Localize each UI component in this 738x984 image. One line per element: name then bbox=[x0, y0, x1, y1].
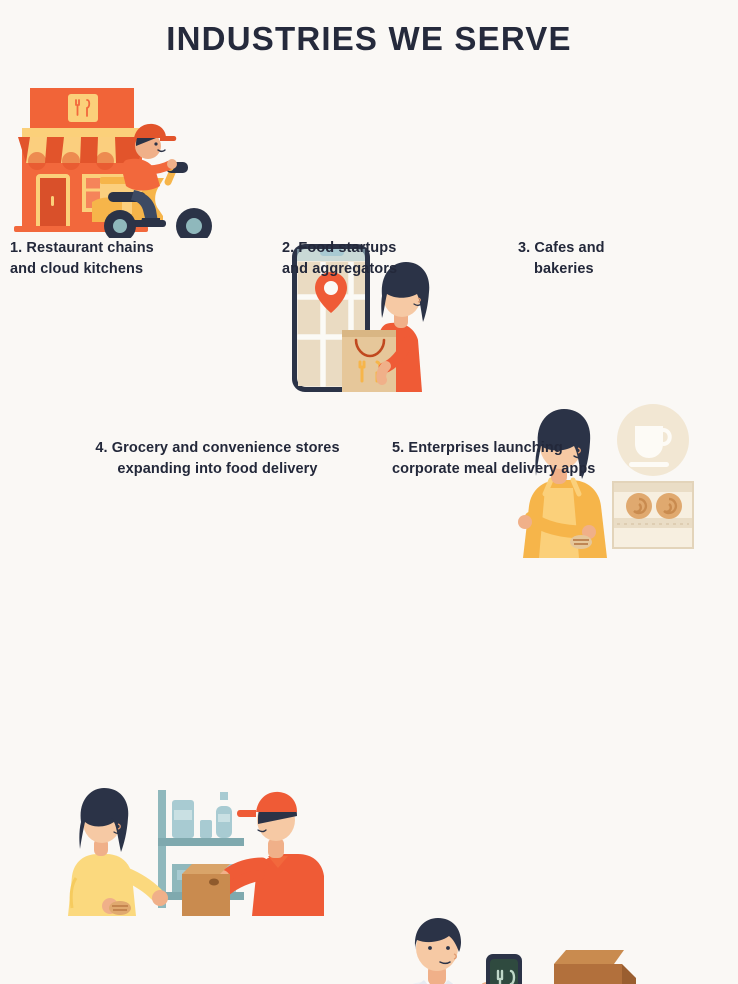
caption-food-startups: 2. Food startups and aggregators bbox=[282, 238, 522, 279]
caption-line-1: 5. Enterprises launching bbox=[392, 440, 563, 456]
caption-restaurant-chains: 1. Restaurant chains and cloud kitchens bbox=[10, 238, 280, 279]
caption-line-2: and cloud kitchens bbox=[10, 259, 280, 280]
caption-cafes-bakeries: 3. Cafes and bakeries bbox=[518, 238, 733, 279]
caption-line-1: 3. Cafes and bbox=[518, 240, 605, 256]
caption-line-2: bakeries bbox=[518, 259, 733, 280]
caption-line-2: corporate meal delivery apps bbox=[392, 459, 712, 480]
poster-root: INDUSTRIES WE SERVE bbox=[0, 0, 738, 492]
illustration-grocery-stores bbox=[62, 776, 324, 916]
page-title: INDUSTRIES WE SERVE bbox=[0, 20, 738, 58]
corporate-app-icon bbox=[378, 916, 640, 984]
caption-line-2: and aggregators bbox=[282, 259, 522, 280]
storefront-scooter-icon bbox=[8, 78, 264, 238]
caption-line-2: expanding into food delivery bbox=[45, 459, 390, 480]
caption-enterprises: 5. Enterprises launching corporate meal … bbox=[392, 438, 712, 479]
caption-line-1: 2. Food startups bbox=[282, 240, 396, 256]
illustration-enterprises bbox=[378, 916, 640, 984]
caption-grocery-stores: 4. Grocery and convenience stores expand… bbox=[45, 438, 390, 479]
caption-line-1: 1. Restaurant chains bbox=[10, 240, 154, 256]
caption-line-1: 4. Grocery and convenience stores bbox=[95, 440, 339, 456]
illustration-restaurant-chains bbox=[8, 78, 264, 238]
grocery-handoff-icon bbox=[62, 776, 324, 916]
